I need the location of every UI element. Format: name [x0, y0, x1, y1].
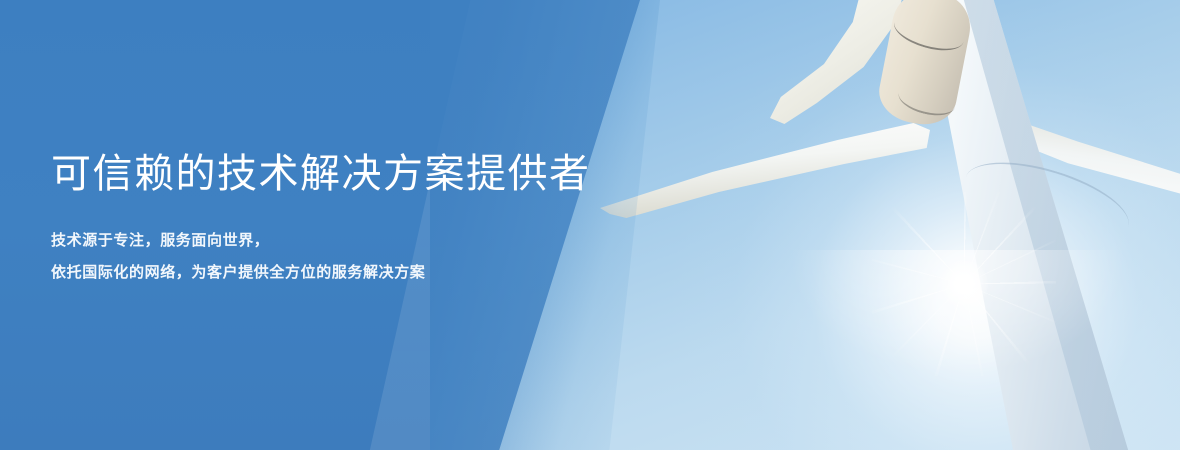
subtitle-line-2: 依托国际化的网络，为客户提供全方位的服务解决方案: [51, 256, 671, 288]
page-title: 可信赖的技术解决方案提供者: [51, 150, 671, 198]
banner-subtitle: 技术源于专注，服务面向世界， 依托国际化的网络，为客户提供全方位的服务解决方案: [51, 198, 671, 288]
sun-core: [940, 260, 988, 308]
banner-copy: 可信赖的技术解决方案提供者 技术源于专注，服务面向世界， 依托国际化的网络，为客…: [51, 150, 671, 288]
hero-banner: 可信赖的技术解决方案提供者 技术源于专注，服务面向世界， 依托国际化的网络，为客…: [0, 0, 1180, 450]
subtitle-line-1: 技术源于专注，服务面向世界，: [51, 224, 671, 256]
